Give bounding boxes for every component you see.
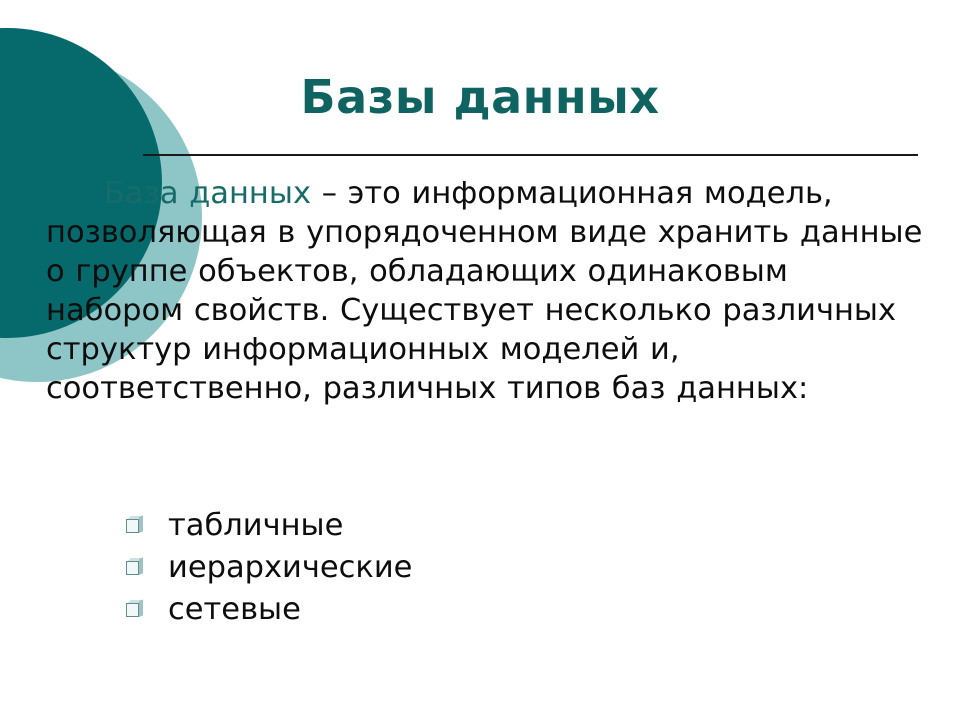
list-item: табличные — [126, 505, 412, 547]
body-paragraph: База данных – это информационная модель,… — [46, 174, 934, 408]
database-types-list: табличные иерархические сетевые — [126, 505, 412, 631]
list-item-label: иерархические — [168, 553, 412, 584]
list-item-label: сетевые — [168, 595, 301, 626]
cube-bullet-icon — [126, 559, 144, 577]
title-divider — [143, 154, 918, 156]
title-block: Базы данных — [0, 72, 960, 123]
cube-bullet-icon — [126, 517, 144, 535]
body-text-block: База данных – это информационная модель,… — [46, 174, 934, 408]
highlighted-term: База данных — [104, 176, 311, 211]
presentation-slide: Базы данных База данных – это информацио… — [0, 0, 960, 720]
list-item: сетевые — [126, 589, 412, 631]
list-item: иерархические — [126, 547, 412, 589]
list-item-label: табличные — [168, 511, 343, 542]
page-title: Базы данных — [0, 72, 960, 123]
cube-bullet-icon — [126, 601, 144, 619]
